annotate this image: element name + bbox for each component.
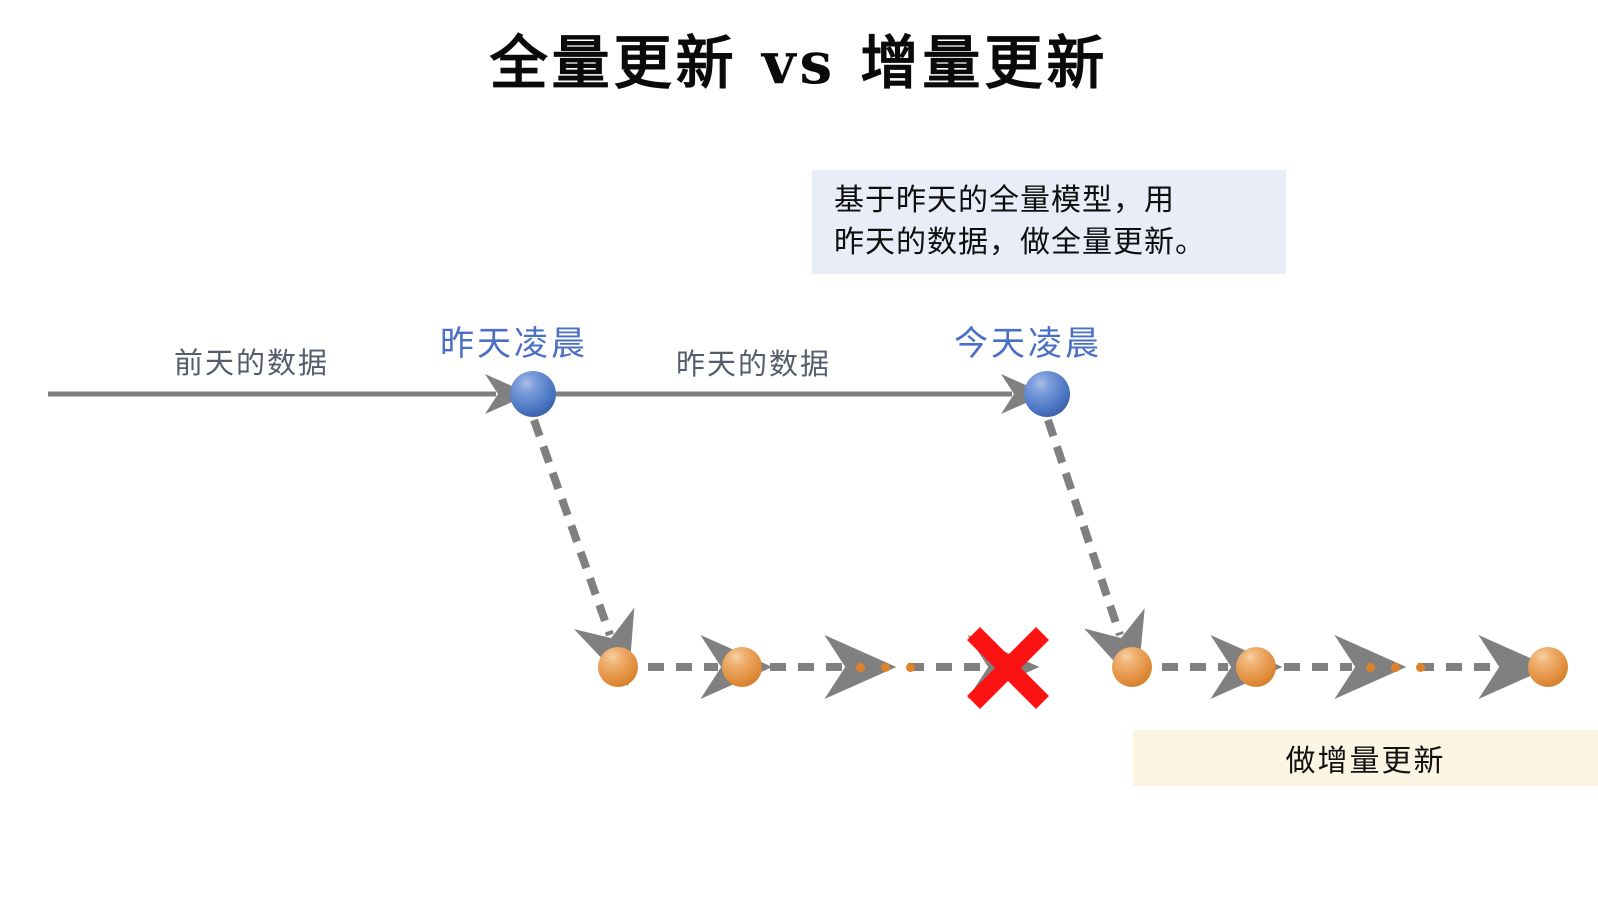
ellipsis-dot <box>1366 663 1375 672</box>
callout-full-update-line2: 昨天的数据，做全量更新。 <box>834 222 1272 264</box>
chain-right-sphere-3 <box>1528 647 1568 687</box>
timeline-node-label-today-dawn: 今天凌晨 <box>954 316 1102 365</box>
chain-right-ellipsis <box>1366 663 1425 672</box>
ellipsis-dot <box>1391 663 1400 672</box>
drop-arrow-today <box>1048 420 1120 635</box>
ellipsis-dot <box>906 663 915 672</box>
diagram-canvas: 全量更新 vs 增量更新 基于昨天的全量模型，用 昨天的数据，做全量更新。 做增… <box>0 0 1598 900</box>
red-cross-icon <box>967 627 1049 709</box>
chain-left-sphere-1 <box>598 647 638 687</box>
timeline-node-sphere-today <box>1024 371 1070 417</box>
ellipsis-dot <box>881 663 890 672</box>
drop-arrow-yesterday <box>534 420 610 635</box>
callout-incremental-update: 做增量更新 <box>1133 730 1598 786</box>
chain-right-sphere-2 <box>1236 647 1276 687</box>
ellipsis-dot <box>856 663 865 672</box>
chain-left-ellipsis <box>856 663 915 672</box>
ellipsis-dot <box>1416 663 1425 672</box>
callout-full-update-line1: 基于昨天的全量模型，用 <box>834 180 1272 222</box>
chain-right-sphere-1 <box>1112 647 1152 687</box>
timeline-node-label-yesterday-dawn: 昨天凌晨 <box>440 316 588 365</box>
timeline-node-sphere-yesterday <box>510 371 556 417</box>
callout-full-update: 基于昨天的全量模型，用 昨天的数据，做全量更新。 <box>812 170 1286 274</box>
chain-left-sphere-2 <box>722 647 762 687</box>
timeline-segment-label-before-yesterday: 前天的数据 <box>174 340 329 382</box>
page-title: 全量更新 vs 增量更新 <box>0 16 1598 100</box>
callout-incremental-update-text: 做增量更新 <box>1286 736 1446 780</box>
timeline-segment-label-yesterday: 昨天的数据 <box>676 341 831 383</box>
